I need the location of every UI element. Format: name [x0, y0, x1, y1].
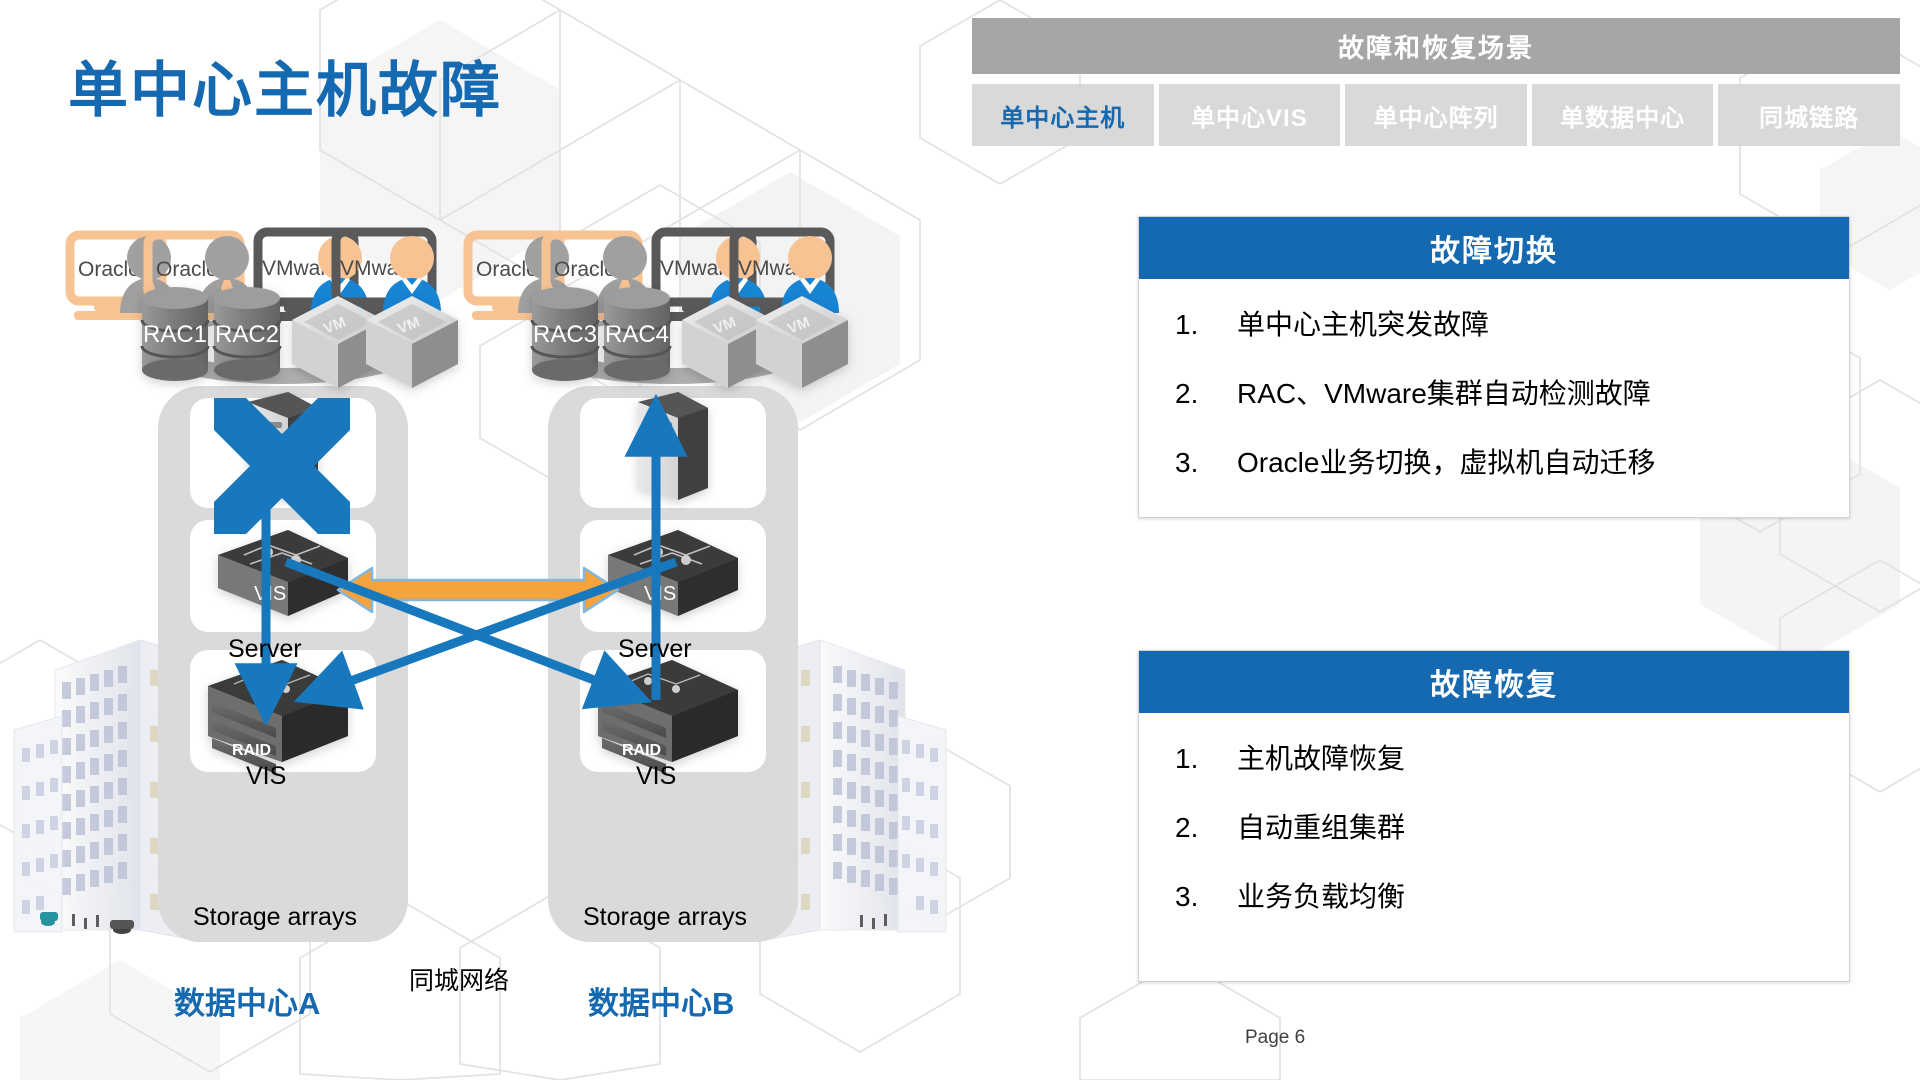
database-cylinder: RAC2: [214, 287, 280, 381]
storage-label-b: Storage arrays: [583, 903, 747, 932]
list-item-index: 1.: [1175, 307, 1237, 342]
list-item-index: 1.: [1175, 741, 1237, 776]
tab-single-center-vis[interactable]: 单中心VIS: [1159, 84, 1341, 146]
storage-label-a: Storage arrays: [193, 903, 357, 932]
tab-label: 单中心阵列: [1373, 98, 1498, 133]
failover-panel: 故障切换 1. 单中心主机突发故障 2. RAC、VMware集群自动检测故障 …: [1138, 216, 1850, 518]
tab-label: 同城链路: [1759, 98, 1859, 133]
list-item: 1. 主机故障恢复: [1175, 741, 1813, 776]
recovery-panel-title: 故障恢复: [1139, 651, 1849, 713]
tab-label: 单中心主机: [1000, 98, 1125, 133]
list-item-text: 单中心主机突发故障: [1237, 307, 1813, 342]
tab-single-center-host[interactable]: 单中心主机: [972, 84, 1154, 146]
server-tower-b: [638, 392, 708, 500]
list-item-index: 2.: [1175, 376, 1237, 411]
list-item: 3. Oracle业务切换，虚拟机自动迁移: [1175, 445, 1813, 480]
datacenter-a-label: 数据中心A: [174, 978, 320, 1023]
list-item-text: 主机故障恢复: [1237, 741, 1813, 776]
failover-panel-title: 故障切换: [1139, 217, 1849, 279]
tab-label: 单数据中心: [1560, 98, 1685, 133]
tab-single-center-array[interactable]: 单中心阵列: [1345, 84, 1527, 146]
list-item-text: Oracle业务切换，虚拟机自动迁移: [1237, 445, 1813, 480]
svg-text:RAC4: RAC4: [605, 321, 669, 348]
list-item: 1. 单中心主机突发故障: [1175, 307, 1813, 342]
recovery-panel-body: 1. 主机故障恢复 2. 自动重组集群 3. 业务负载均衡: [1139, 713, 1849, 958]
list-item: 2. RAC、VMware集群自动检测故障: [1175, 376, 1813, 411]
recovery-panel: 故障恢复 1. 主机故障恢复 2. 自动重组集群 3. 业务负载均衡: [1138, 650, 1850, 982]
scenario-header-title: 故障和恢复场景: [972, 18, 1900, 74]
database-cylinder: RAC4: [604, 287, 670, 381]
svg-text:RAID: RAID: [622, 742, 661, 759]
list-item-text: 自动重组集群: [1237, 810, 1813, 845]
tab-metro-link[interactable]: 同城链路: [1718, 84, 1900, 146]
server-label-a: Server: [228, 635, 302, 664]
tab-single-datacenter[interactable]: 单数据中心: [1532, 84, 1714, 146]
svg-text:RAID: RAID: [232, 742, 271, 759]
list-item-index: 2.: [1175, 810, 1237, 845]
datacenter-b-label: 数据中心B: [588, 978, 734, 1023]
page-title: 单中心主机故障: [68, 42, 502, 129]
database-cylinder: RAC1: [142, 287, 208, 381]
svg-text:RAC2: RAC2: [215, 321, 279, 348]
list-item: 3. 业务负载均衡: [1175, 879, 1813, 914]
svg-text:RAC1: RAC1: [143, 321, 207, 348]
list-item-text: RAC、VMware集群自动检测故障: [1237, 376, 1813, 411]
list-item-index: 3.: [1175, 879, 1237, 914]
server-label-b: Server: [618, 635, 692, 664]
metro-network-label: 同城网络: [409, 961, 509, 997]
svg-text:RAC3: RAC3: [533, 321, 597, 348]
list-item: 2. 自动重组集群: [1175, 810, 1813, 845]
scenario-tabs: 单中心主机 单中心VIS 单中心阵列 单数据中心 同城链路: [972, 84, 1900, 146]
tab-label: 单中心VIS: [1191, 98, 1308, 133]
failover-panel-body: 1. 单中心主机突发故障 2. RAC、VMware集群自动检测故障 3. Or…: [1139, 279, 1849, 524]
vis-label-b: VIS: [636, 762, 676, 791]
list-item-text: 业务负载均衡: [1237, 879, 1813, 914]
list-item-index: 3.: [1175, 445, 1237, 480]
page-number: Page 6: [1245, 1027, 1305, 1049]
architecture-diagram: Oracle Oracle: [0, 170, 960, 1050]
vis-label-a: VIS: [246, 762, 286, 791]
database-cylinder: RAC3: [532, 287, 598, 381]
